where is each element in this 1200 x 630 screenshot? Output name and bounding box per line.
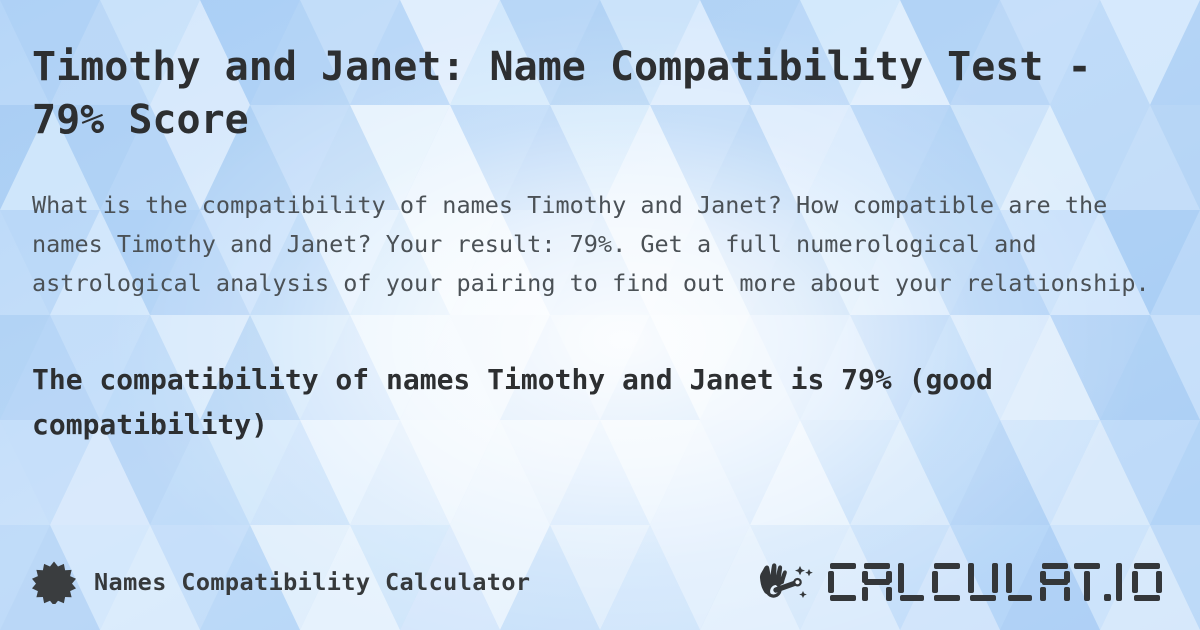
brand-name-label: Names Compatibility Calculator bbox=[94, 568, 530, 596]
calculatio-wordmark-o bbox=[1128, 561, 1168, 603]
starburst-seal-icon bbox=[32, 560, 76, 604]
site-logo[interactable] bbox=[756, 558, 1168, 606]
calculatio-wordmark bbox=[826, 561, 1122, 603]
social-share-card: Timothy and Janet: Name Compatibility Te… bbox=[0, 0, 1200, 630]
result-statement: The compatibility of names Timothy and J… bbox=[32, 357, 1177, 447]
page-title: Timothy and Janet: Name Compatibility Te… bbox=[32, 41, 1162, 147]
hand-magic-wand-icon bbox=[756, 558, 820, 606]
card-footer: Names Compatibility Calculator bbox=[0, 534, 1200, 630]
brand-block: Names Compatibility Calculator bbox=[32, 560, 530, 604]
description-text: What is the compatibility of names Timot… bbox=[32, 186, 1172, 303]
